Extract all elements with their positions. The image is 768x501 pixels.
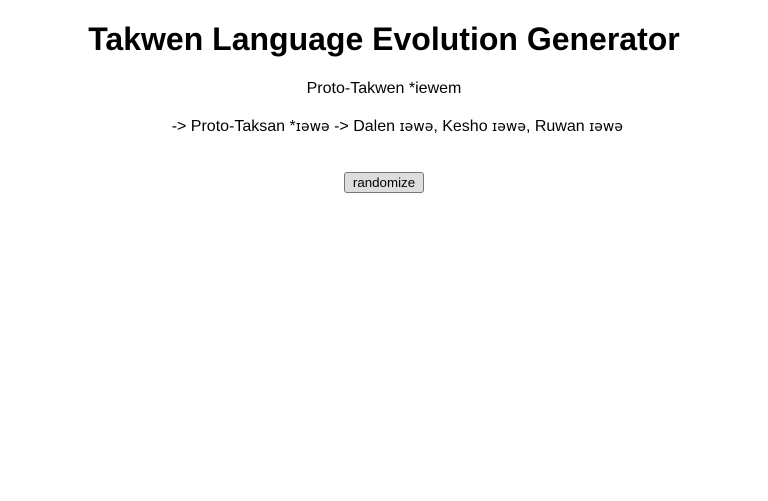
daughter-language-ruwan: Ruwan ɪəwə — [535, 118, 623, 135]
daughter-separator: , — [433, 118, 442, 135]
daughter-language-name: Ruwan — [535, 118, 589, 135]
evolution-arrow: -> — [330, 118, 354, 135]
evolution-line-descendants: -> Proto-Taksan *ɪəwə -> Dalen ɪəwə, Kes… — [8, 98, 760, 156]
daughter-language-kesho: Kesho ɪəwə, — [442, 118, 535, 135]
daughter-language-name: Dalen — [353, 118, 399, 135]
daughter-language-dalen: Dalen ɪəwə, — [353, 118, 442, 135]
proto-taksan-form: ɪəwə — [296, 119, 330, 135]
daughter-separator: , — [526, 118, 535, 135]
daughter-language-name: Kesho — [442, 118, 492, 135]
evolution-output: Proto-Takwen *iewem -> Proto-Taksan *ɪəw… — [8, 79, 760, 156]
daughter-language-form: ɪəwə — [399, 119, 433, 135]
proto-taksan-prefix: -> Proto-Taksan * — [172, 118, 296, 135]
page-container: Takwen Language Evolution Generator Prot… — [8, 21, 760, 193]
daughter-language-form: ɪəwə — [589, 119, 623, 135]
evolution-line-proto-takwen: Proto-Takwen *iewem — [8, 79, 760, 98]
randomize-button[interactable]: randomize — [344, 172, 424, 193]
daughter-language-form: ɪəwə — [492, 119, 526, 135]
page-title: Takwen Language Evolution Generator — [8, 21, 760, 58]
controls-row: randomize — [8, 172, 760, 193]
